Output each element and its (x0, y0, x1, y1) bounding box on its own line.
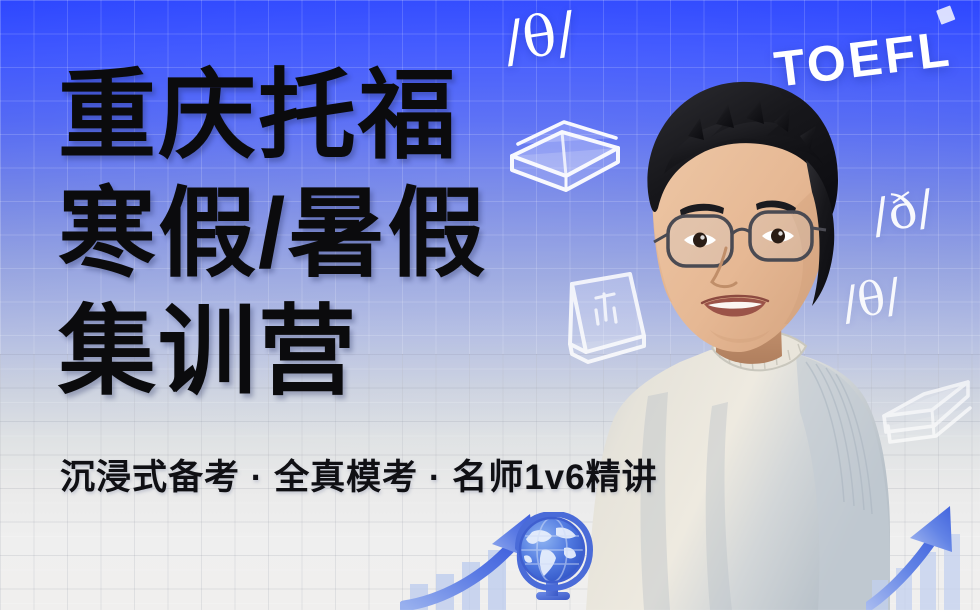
headline: 重庆托福 寒假/暑假 集训营 (58, 56, 487, 410)
headline-line-3: 集训营 (58, 292, 487, 410)
open-book-icon (500, 96, 628, 200)
subtitle-text: 沉浸式备考 · 全真模考 · 名师1v6精讲 (60, 456, 658, 500)
open-book-faded-icon (876, 366, 976, 458)
toefl-logo: TOEFL (772, 23, 955, 94)
notebook-icon (556, 262, 660, 380)
hair (647, 82, 838, 306)
toefl-logo-text: TOEFL (771, 20, 954, 97)
toefl-promo-banner: /θ/ /ð/ /θ/ (0, 0, 980, 610)
headline-line-1: 重庆托福 (58, 56, 487, 174)
mouth (702, 296, 768, 317)
ipa-theta-right: /θ/ (838, 271, 904, 326)
globe-icon (498, 512, 608, 610)
glasses (654, 212, 826, 266)
ipa-theta-top: /θ/ (500, 5, 579, 71)
growth-arrow-right-icon (866, 496, 980, 610)
ipa-eth-right: /ð/ (868, 183, 937, 241)
eyes (684, 229, 794, 248)
headline-line-2: 寒假/暑假 (58, 174, 487, 292)
